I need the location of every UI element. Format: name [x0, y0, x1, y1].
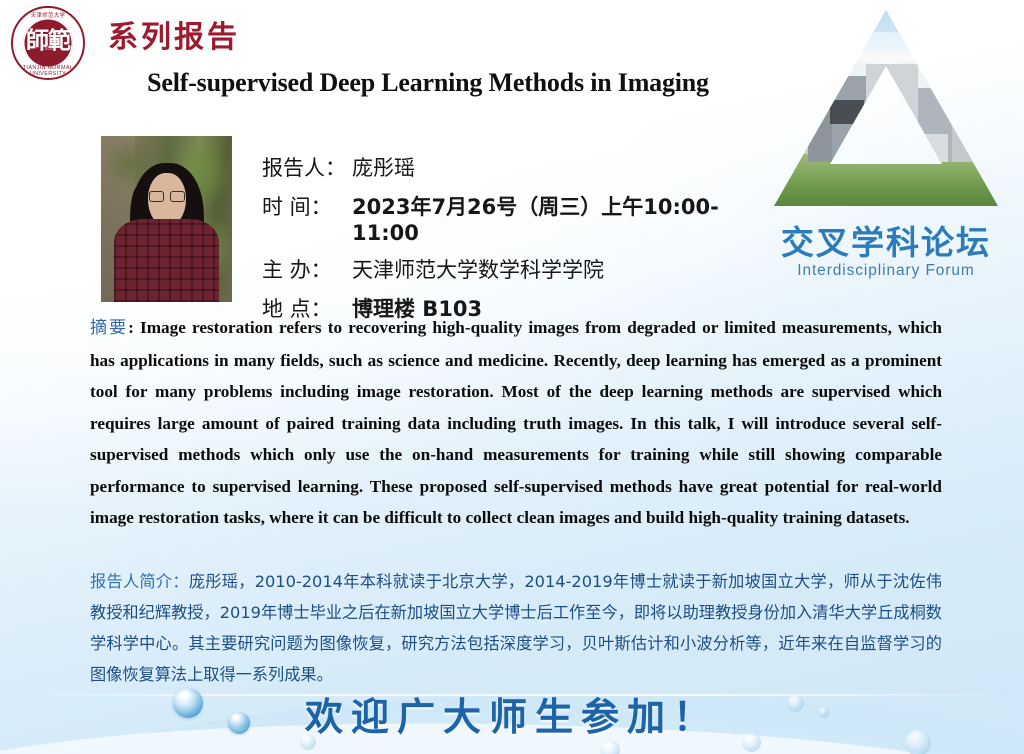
abstract-label: 摘要 [90, 318, 128, 338]
abstract-section: 摘要: Image restoration refers to recoveri… [90, 312, 942, 534]
info-label: 主 办： [262, 254, 352, 284]
info-row-organizer: 主 办： 天津师范大学数学科学学院 [262, 254, 762, 284]
info-value-speaker: 庞彤瑶 [352, 152, 415, 182]
glasses-icon [149, 191, 186, 203]
series-label: 系列报告 [108, 12, 240, 56]
abstract-colon: : [128, 318, 140, 337]
info-label: 报告人： [262, 152, 352, 182]
seminar-poster: 天津师范大学 師範 1958 TIANJIN NORMAL UNIVERSITY… [0, 0, 1024, 754]
info-label: 时 间： [262, 191, 352, 221]
bio-text: 庞彤瑶，2010-2014年本科就读于北京大学，2014-2019年博士就读于新… [90, 572, 942, 684]
logo-year: 1958 [23, 46, 73, 52]
triangle-photo-mask [770, 4, 1002, 212]
info-row-speaker: 报告人： 庞彤瑶 [262, 152, 762, 182]
abstract-text: Image restoration refers to recovering h… [90, 318, 942, 527]
logo-disc: 師範 1958 [23, 18, 73, 68]
bubble-icon [600, 740, 620, 754]
welcome-message: 欢迎广大师生参加！ [0, 686, 1024, 741]
info-row-time: 时 间： 2023年7月26号（周三）上午10:00-11:00 [262, 191, 762, 245]
speaker-portrait [101, 136, 232, 302]
info-value-organizer: 天津师范大学数学科学学院 [352, 254, 604, 284]
logo-arc-bottom-text: TIANJIN NORMAL UNIVERSITY [11, 65, 85, 77]
university-logo: 天津师范大学 師範 1958 TIANJIN NORMAL UNIVERSITY [11, 6, 85, 80]
forum-name-cn: 交叉学科论坛 [762, 216, 1010, 264]
info-value-time: 2023年7月26号（周三）上午10:00-11:00 [352, 191, 762, 245]
page-title: Self-supervised Deep Learning Methods in… [96, 68, 760, 98]
speaker-bio-section: 报告人简介：庞彤瑶，2010-2014年本科就读于北京大学，2014-2019年… [90, 566, 942, 690]
interdisciplinary-forum-logo: 交叉学科论坛 Interdisciplinary Forum [762, 4, 1010, 294]
event-info-list: 报告人： 庞彤瑶 时 间： 2023年7月26号（周三）上午10:00-11:0… [262, 152, 762, 332]
portrait-shirt-plaid [114, 219, 219, 302]
bio-label: 报告人简介： [90, 572, 189, 591]
triangle-emblem-icon [770, 4, 1002, 212]
forum-name-en: Interdisciplinary Forum [762, 262, 1010, 280]
